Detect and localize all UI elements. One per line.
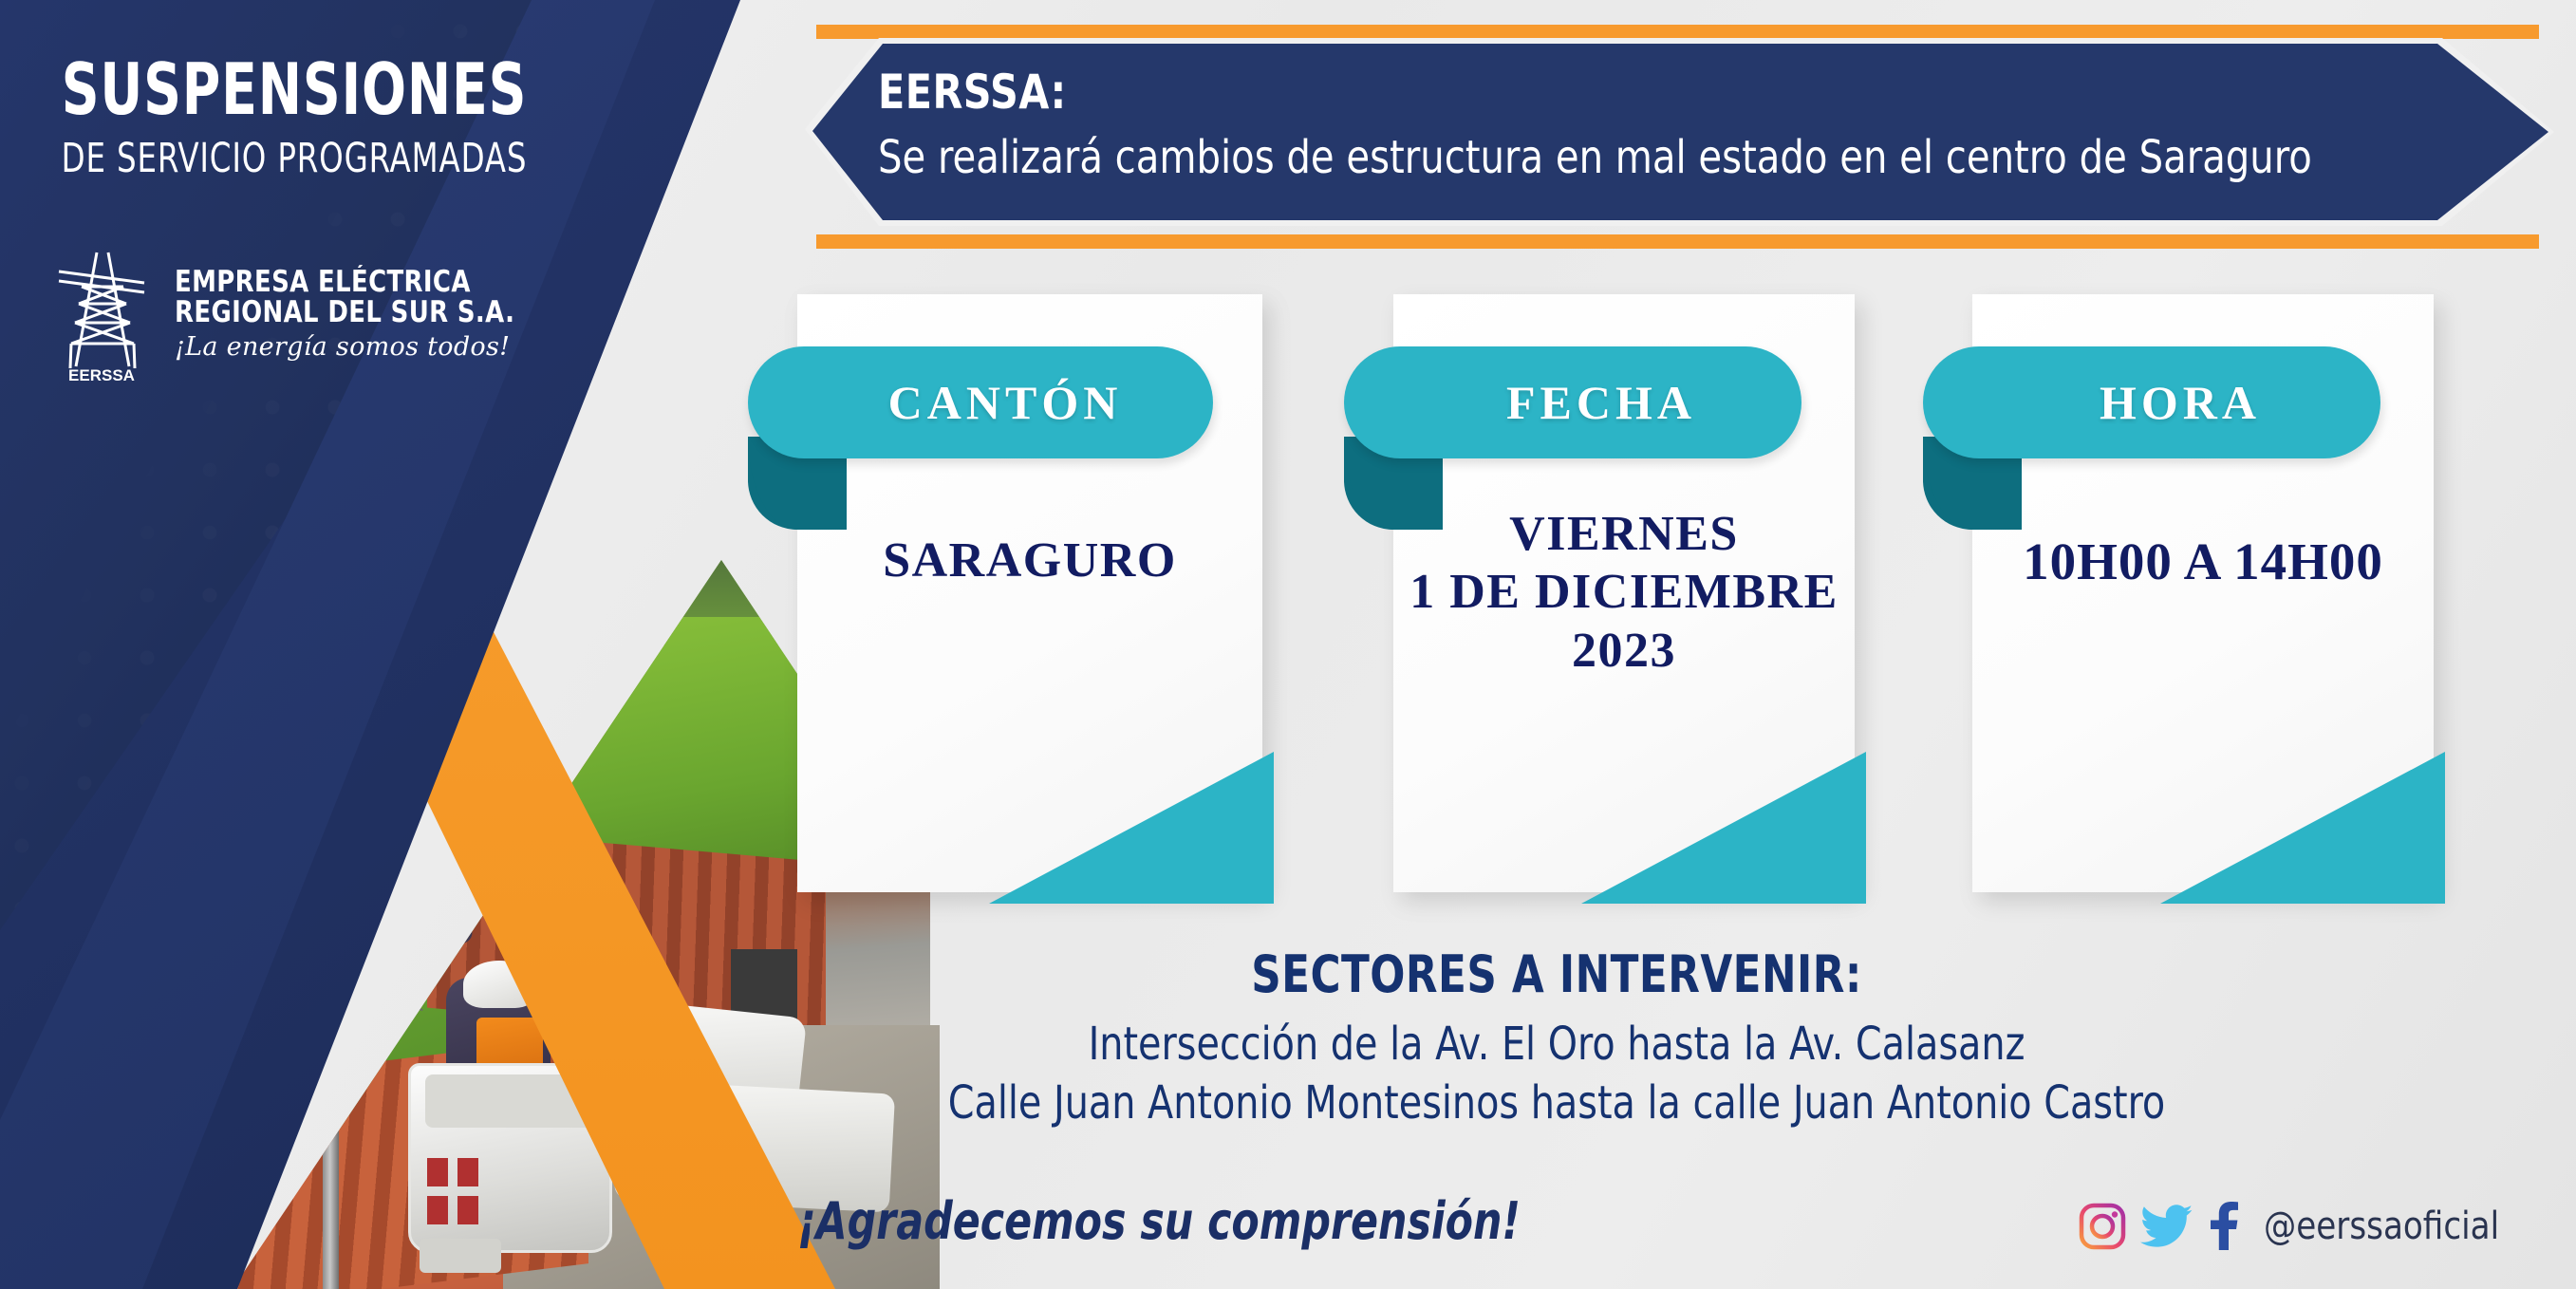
card-corner-triangle: [989, 752, 1274, 904]
card-label-canton: CANTÓN: [797, 346, 1213, 458]
social-media-block: @eerssaoficial: [2078, 1202, 2511, 1251]
ribbon-fecha: FECHA: [1344, 346, 1809, 458]
info-card-fecha: FECHA VIERNES 1 DE DICIEMBRE 2023: [1393, 294, 1855, 892]
card-label-fecha: FECHA: [1393, 346, 1809, 458]
twitter-icon[interactable]: [2140, 1202, 2193, 1251]
sectors-line-2: Calle Juan Antonio Montesinos hasta la c…: [788, 1076, 2324, 1130]
sectors-title: SECTORES A INTERVENIR:: [805, 944, 2308, 1004]
ribbon-canton: CANTÓN: [748, 346, 1213, 458]
sectors-line-1: Intersección de la Av. El Oro hasta la A…: [788, 1018, 2324, 1071]
card-value-canton: SARAGURO: [788, 532, 1272, 589]
card-corner-triangle: [1581, 752, 1866, 904]
facebook-icon[interactable]: [2207, 1202, 2241, 1251]
sectors-block: SECTORES A INTERVENIR: Intersección de l…: [721, 944, 2392, 1130]
card-value-hora: 10H00 A 14H00: [1951, 532, 2455, 593]
suspension-notice-poster: SUSPENSIONES DE SERVICIO PROGRAMADAS EER…: [0, 0, 2576, 1289]
thanks-message: ¡Agradecemos su comprensión!: [797, 1191, 1521, 1251]
card-value-fecha: VIERNES 1 DE DICIEMBRE 2023: [1336, 505, 1912, 680]
card-corner-triangle: [2160, 752, 2445, 904]
info-card-canton: CANTÓN SARAGURO: [797, 294, 1262, 892]
social-handle: @eerssaoficial: [2264, 1205, 2499, 1248]
card-label-hora: HORA: [1972, 346, 2388, 458]
ribbon-hora: HORA: [1923, 346, 2388, 458]
info-card-hora: HORA 10H00 A 14H00: [1972, 294, 2434, 892]
instagram-icon[interactable]: [2078, 1202, 2127, 1251]
